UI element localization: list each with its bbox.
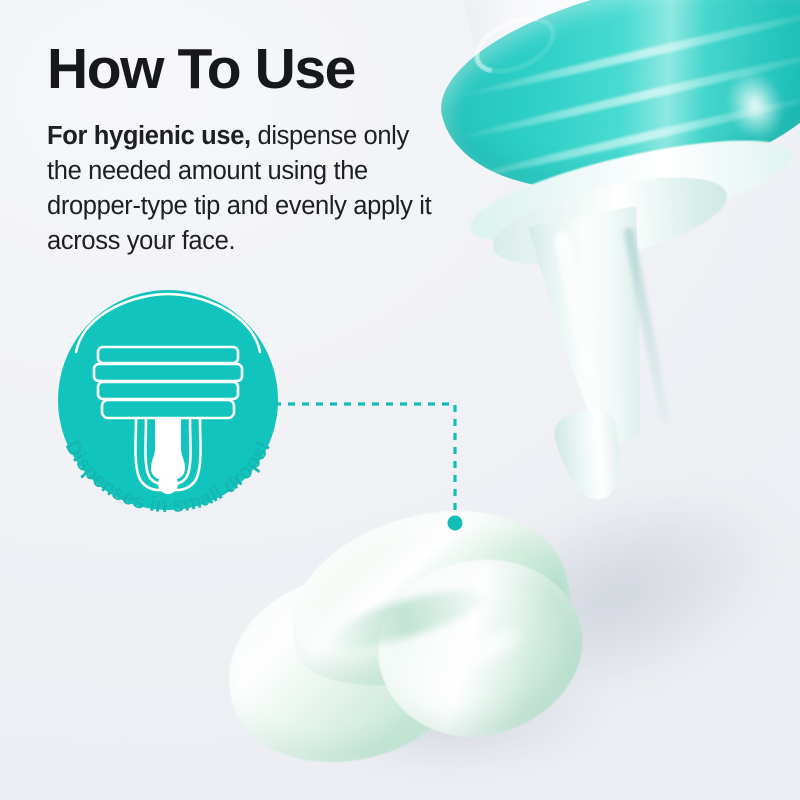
connector-end-dot — [448, 516, 463, 531]
badge-to-tip-connector — [0, 0, 800, 800]
how-to-use-panel: How To Use For hygienic use, dispense on… — [0, 0, 800, 800]
connector-dashed-line — [274, 404, 455, 516]
